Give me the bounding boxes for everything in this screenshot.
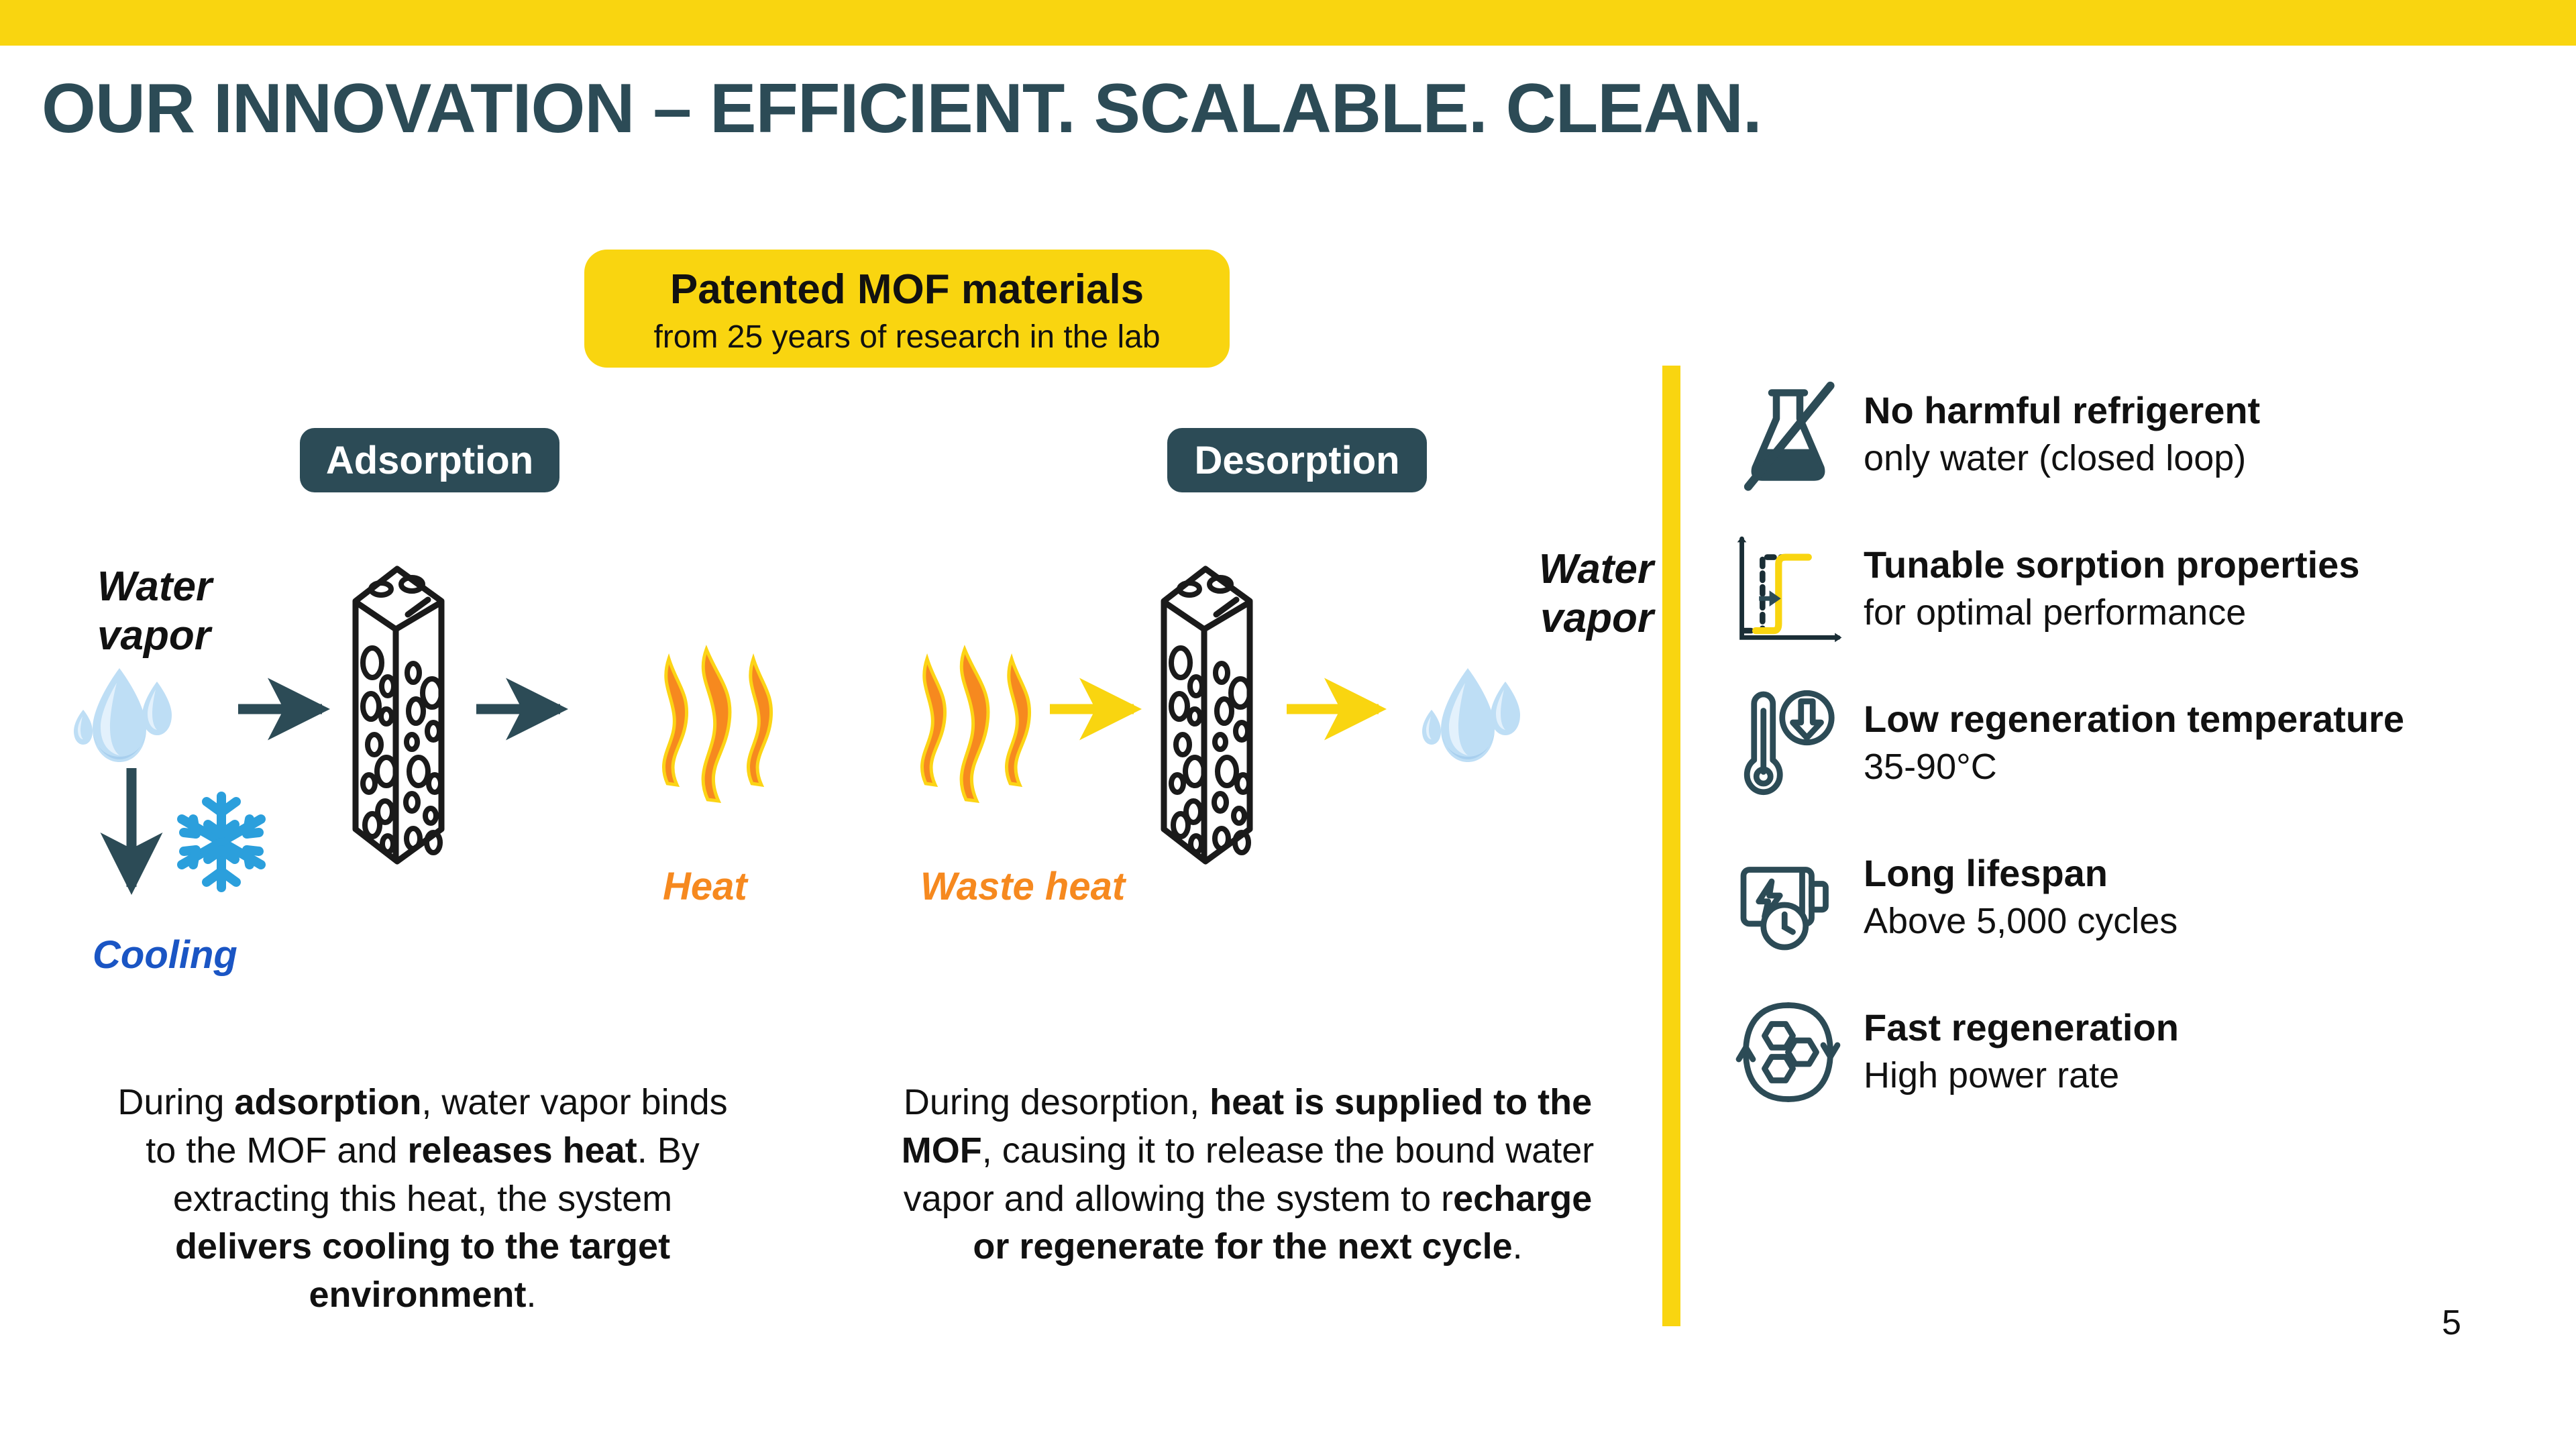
water-droplets-icon-adsorption xyxy=(74,668,172,762)
feature-heading: No harmful refrigerent xyxy=(1864,389,2260,433)
hexagon-cycle-icon xyxy=(1717,985,1858,1119)
mof-block-icon-adsorption xyxy=(356,569,441,861)
heat-waves-icon-desorption xyxy=(922,649,1029,801)
desorption-description: During desorption, heat is supplied to t… xyxy=(892,1079,1603,1271)
feature-heading: Low regeneration temperature xyxy=(1864,698,2404,741)
label-cooling: Cooling xyxy=(93,932,237,978)
snowflake-icon xyxy=(182,796,261,888)
feature-subtext: Above 5,000 cycles xyxy=(1864,900,2178,943)
vertical-accent-divider xyxy=(1662,366,1680,1326)
feature-item-long-lifespan: Long lifespan Above 5,000 cycles xyxy=(1717,830,2563,965)
mof-badge-title: Patented MOF materials xyxy=(584,264,1230,315)
tunable-sorption-chart-icon xyxy=(1717,522,1858,656)
feature-heading: Long lifespan xyxy=(1864,852,2178,896)
feature-subtext: 35-90°C xyxy=(1864,745,2404,789)
feature-subtext: only water (closed loop) xyxy=(1864,437,2260,480)
feature-subtext: High power rate xyxy=(1864,1054,2179,1097)
feature-subtext: for optimal performance xyxy=(1864,591,2359,635)
page-title: OUR INNOVATION – EFFICIENT. SCALABLE. CL… xyxy=(42,74,2322,144)
mof-badge-subtitle: from 25 years of research in the lab xyxy=(584,317,1230,358)
feature-heading: Tunable sorption properties xyxy=(1864,543,2359,587)
feature-heading: Fast regeneration xyxy=(1864,1006,2179,1050)
feature-item-low-regeneration-temperature: Low regeneration temperature 35-90°C xyxy=(1717,676,2563,810)
patented-mof-badge: Patented MOF materials from 25 years of … xyxy=(584,250,1230,368)
feature-item-fast-regeneration: Fast regeneration High power rate xyxy=(1717,985,2563,1119)
battery-lifespan-icon xyxy=(1717,830,1858,965)
water-droplets-icon-desorption xyxy=(1422,668,1520,762)
feature-item-no-harmful-refrigerent: No harmful refrigerent only water (close… xyxy=(1717,368,2563,502)
heat-waves-icon-adsorption xyxy=(663,649,771,801)
feature-item-tunable-sorption: Tunable sorption properties for optimal … xyxy=(1717,522,2563,656)
adsorption-description: During adsorption, water vapor binds to … xyxy=(107,1079,738,1320)
top-accent-band xyxy=(0,0,2576,46)
process-diagram xyxy=(0,402,1657,939)
feature-list: No harmful refrigerent only water (close… xyxy=(1717,368,2563,1139)
mof-block-icon-desorption xyxy=(1164,569,1250,861)
no-refrigerant-flask-icon xyxy=(1717,368,1858,502)
page-number: 5 xyxy=(2442,1303,2461,1343)
low-temperature-thermometer-icon xyxy=(1717,676,1858,810)
